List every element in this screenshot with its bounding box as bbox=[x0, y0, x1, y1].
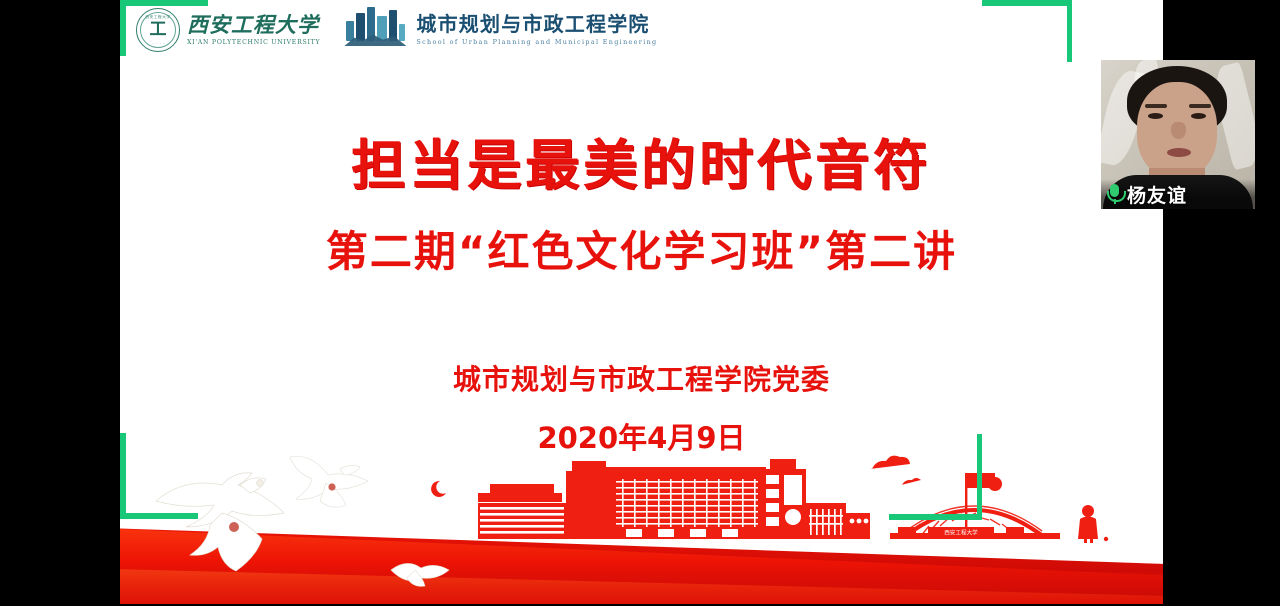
college-name-block: 城市规划与市政工程学院 School of Urban Planning and… bbox=[416, 14, 657, 46]
presentation-slide: 西安工程大学 工 · · · · · 西安工程大学 XI'AN POLYTECH… bbox=[120, 0, 1163, 604]
slide-date: 2020年4月9日 bbox=[120, 415, 1163, 457]
participant-nose bbox=[1171, 122, 1186, 139]
university-name-en: XI'AN POLYTECHNIC UNIVERSITY bbox=[187, 39, 320, 46]
university-name-block: 西安工程大学 XI'AN POLYTECHNIC UNIVERSITY bbox=[187, 14, 320, 45]
slide-organization: 城市规划与市政工程学院党委 bbox=[120, 358, 1163, 398]
meeting-screen-share-view: 西安工程大学 工 · · · · · 西安工程大学 XI'AN POLYTECH… bbox=[0, 0, 1280, 606]
svg-text:西安工程大学: 西安工程大学 bbox=[944, 528, 978, 536]
microphone-icon[interactable] bbox=[1106, 184, 1123, 204]
participant-eye-right bbox=[1191, 113, 1206, 119]
participant-name-bar: 杨友谊 bbox=[1101, 179, 1255, 209]
university-name-cn: 西安工程大学 bbox=[187, 14, 320, 36]
participant-eye-left bbox=[1148, 113, 1163, 119]
slide-subtitle: 第二期“红色文化学习班”第二讲 bbox=[120, 228, 1163, 276]
slide-header-logos: 西安工程大学 工 · · · · · 西安工程大学 XI'AN POLYTECH… bbox=[136, 7, 658, 53]
participant-mouth bbox=[1167, 148, 1191, 157]
college-name-cn: 城市规划与市政工程学院 bbox=[416, 14, 657, 36]
participant-video-tile[interactable]: 杨友谊 bbox=[1101, 60, 1255, 209]
dove-icon-medium bbox=[280, 445, 400, 525]
seal-ring-bottom-text: · · · · · bbox=[152, 42, 165, 46]
participant-name: 杨友谊 bbox=[1127, 181, 1187, 208]
college-name-en: School of Urban Planning and Municipal E… bbox=[416, 38, 657, 46]
slide-main-title: 担当是最美的时代音符 bbox=[120, 136, 1163, 196]
participant-brow-left bbox=[1145, 104, 1167, 108]
university-seal-icon: 西安工程大学 工 · · · · · bbox=[136, 8, 180, 52]
dove-icon-small bbox=[385, 550, 465, 594]
seal-center-glyph: 工 bbox=[150, 22, 167, 39]
campus-skyline-illustration: 西安工程大学 bbox=[420, 451, 1160, 556]
college-building-logo-icon bbox=[344, 10, 406, 50]
participant-brow-right bbox=[1189, 104, 1211, 108]
